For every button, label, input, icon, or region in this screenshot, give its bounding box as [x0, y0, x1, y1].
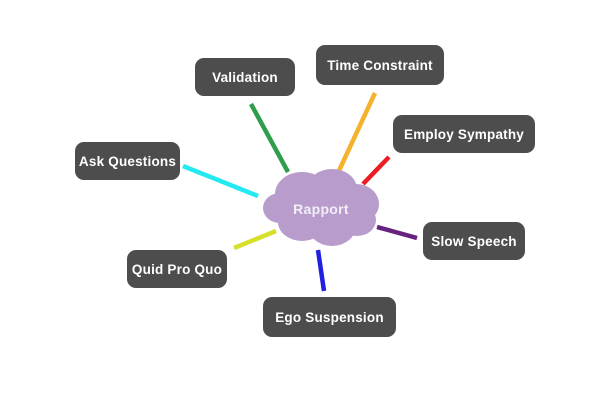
- branch-node[interactable]: Time Constraint: [316, 45, 444, 85]
- connector-line: [337, 93, 375, 175]
- connector-line: [377, 227, 417, 238]
- branch-node[interactable]: Slow Speech: [423, 222, 525, 260]
- branch-node[interactable]: Validation: [195, 58, 295, 96]
- mind-map-canvas: Rapport ValidationTime ConstraintEmploy …: [0, 0, 600, 400]
- branch-node[interactable]: Quid Pro Quo: [127, 250, 227, 288]
- connector-line: [318, 250, 324, 291]
- cloud-shape: [263, 169, 379, 246]
- connector-line: [183, 166, 258, 196]
- branch-node[interactable]: Ask Questions: [75, 142, 180, 180]
- connector-line: [251, 104, 288, 172]
- central-node-cloud[interactable]: [262, 168, 380, 250]
- branch-node[interactable]: Employ Sympathy: [393, 115, 535, 153]
- branch-node[interactable]: Ego Suspension: [263, 297, 396, 337]
